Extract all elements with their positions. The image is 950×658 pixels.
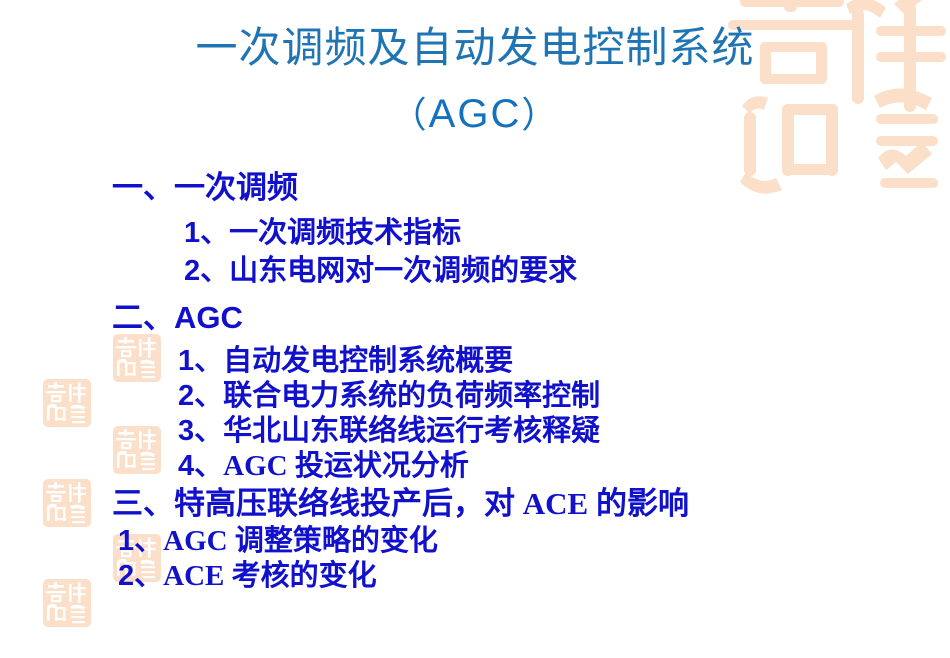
subtitle-close-paren: ） xyxy=(521,95,559,135)
outline-item-sec-3-1: 1、AGC 调整策略的变化 xyxy=(0,524,950,559)
outline-item-sec-2-4: 4、AGC 投运状况分析 xyxy=(0,449,950,484)
outline-text: ACE 考核的变化 xyxy=(163,560,376,592)
outline-text: AGC xyxy=(174,300,243,335)
outline-marker: 1、 xyxy=(184,217,229,249)
outline-marker: 2、 xyxy=(184,255,229,287)
presentation-slide: 一次调频及自动发电控制系统 （AGC） 一、一次调频 1、一次调频技术指标 2、… xyxy=(0,0,950,658)
outline-item-sec-1: 一、一次调频 xyxy=(0,168,950,208)
slide-title: 一次调频及自动发电控制系统 xyxy=(0,22,950,76)
outline-list: 一、一次调频 1、一次调频技术指标 2、山东电网对一次调频的要求 二、AGC 1… xyxy=(0,168,950,594)
outline-marker: 2、 xyxy=(118,560,163,592)
outline-text: 一次调频 xyxy=(174,170,298,205)
outline-marker: 3、 xyxy=(178,415,223,447)
outline-item-sec-2-2: 2、联合电力系统的负荷频率控制 xyxy=(0,379,950,414)
outline-marker: 1、 xyxy=(118,525,163,557)
outline-text: AGC 调整策略的变化 xyxy=(163,525,438,557)
outline-marker: 2、 xyxy=(178,380,223,412)
outline-item-sec-2: 二、AGC xyxy=(0,298,950,338)
outline-item-sec-3-2: 2、ACE 考核的变化 xyxy=(0,559,950,594)
outline-text: 特高压联络线投产后，对 ACE 的影响 xyxy=(174,486,689,521)
outline-item-sec-3: 三、特高压联络线投产后，对 ACE 的影响 xyxy=(0,484,950,524)
outline-marker: 4、 xyxy=(178,450,223,482)
outline-marker: 二、 xyxy=(112,300,174,335)
outline-text: 华北山东联络线运行考核释疑 xyxy=(223,415,600,447)
outline-item-sec-1-2: 2、山东电网对一次调频的要求 xyxy=(0,252,950,290)
subtitle-text: AGC xyxy=(429,92,522,136)
outline-text: 联合电力系统的负荷频率控制 xyxy=(223,380,600,412)
outline-text: 自动发电控制系统概要 xyxy=(223,345,513,377)
outline-item-sec-1-1: 1、一次调频技术指标 xyxy=(0,214,950,252)
outline-marker: 一、 xyxy=(112,170,174,205)
outline-item-sec-2-3: 3、华北山东联络线运行考核释疑 xyxy=(0,414,950,449)
slide-subtitle: （AGC） xyxy=(0,90,950,139)
outline-item-sec-2-1: 1、自动发电控制系统概要 xyxy=(0,344,950,379)
outline-marker: 三、 xyxy=(112,486,174,521)
outline-text: 一次调频技术指标 xyxy=(229,217,461,249)
title-block: 一次调频及自动发电控制系统 （AGC） xyxy=(0,22,950,139)
outline-marker: 1、 xyxy=(178,345,223,377)
outline-text: AGC 投运状况分析 xyxy=(223,450,469,482)
subtitle-open-paren: （ xyxy=(391,95,429,135)
outline-text: 山东电网对一次调频的要求 xyxy=(229,255,577,287)
